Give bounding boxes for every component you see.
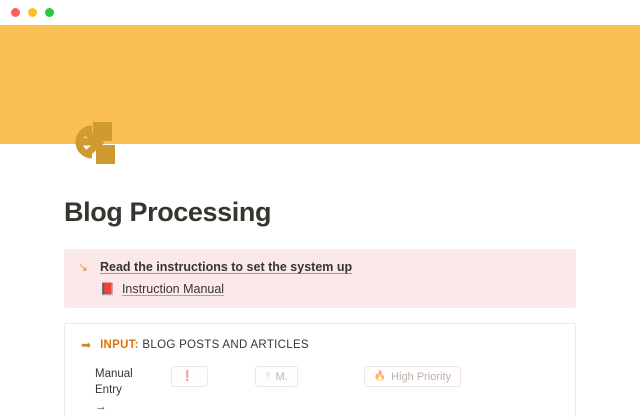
input-section-header: ➡ INPUT: BLOG POSTS AND ARTICLES — [65, 338, 575, 352]
traffic-light-group — [11, 8, 54, 17]
manual-entry-arrow-icon: → — [95, 399, 142, 415]
chip-label: M. — [275, 371, 287, 383]
page-icon-logo[interactable] — [64, 116, 120, 172]
arrow-right-icon: ➡ — [81, 338, 91, 352]
input-subject: BLOG POSTS AND ARTICLES — [142, 339, 308, 351]
arrow-down-right-icon: ↘ — [78, 259, 91, 276]
input-label: INPUT: — [100, 339, 139, 351]
window-title-bar — [0, 0, 640, 25]
double-exclamation-icon: ‼ — [265, 372, 270, 382]
input-section-title: INPUT: BLOG POSTS AND ARTICLES — [100, 338, 309, 352]
page-title: Blog Processing — [64, 144, 576, 228]
chip-priority-medium[interactable]: ‼ M. — [255, 366, 297, 387]
zoom-window-button[interactable] — [45, 8, 54, 17]
input-section-card: ➡ INPUT: BLOG POSTS AND ARTICLES Manual … — [64, 323, 576, 417]
manual-entry-label: Manual Entry — [95, 366, 142, 398]
exclamation-icon: ❗ — [181, 372, 193, 382]
instruction-manual-link[interactable]: Instruction Manual — [122, 281, 224, 297]
minimize-window-button[interactable] — [28, 8, 37, 17]
close-window-button[interactable] — [11, 8, 20, 17]
chip-label: High Priority — [391, 371, 451, 383]
instructions-callout: ↘ Read the instructions to set the syste… — [64, 249, 576, 308]
page-content: Blog Processing ↘ Read the instructions … — [0, 144, 640, 417]
book-icon: 📕 — [100, 281, 115, 297]
chip-priority-low[interactable]: ❗ — [171, 366, 208, 387]
instructions-link[interactable]: Read the instructions to set the system … — [100, 259, 352, 276]
fire-icon: 🔥 — [374, 372, 386, 382]
callout-main-row: ↘ Read the instructions to set the syste… — [78, 259, 562, 276]
chip-priority-high[interactable]: 🔥 High Priority — [364, 366, 461, 387]
manual-entry-cell: Manual Entry → — [95, 366, 142, 415]
recycle-squares-logo-icon — [64, 116, 120, 172]
input-section-body: Manual Entry → ❗ ‼ M. 🔥 High Priority — [65, 352, 575, 415]
callout-sub-row: 📕 Instruction Manual — [78, 281, 562, 297]
priority-chip-group: ❗ ‼ M. 🔥 High Priority — [142, 366, 559, 387]
